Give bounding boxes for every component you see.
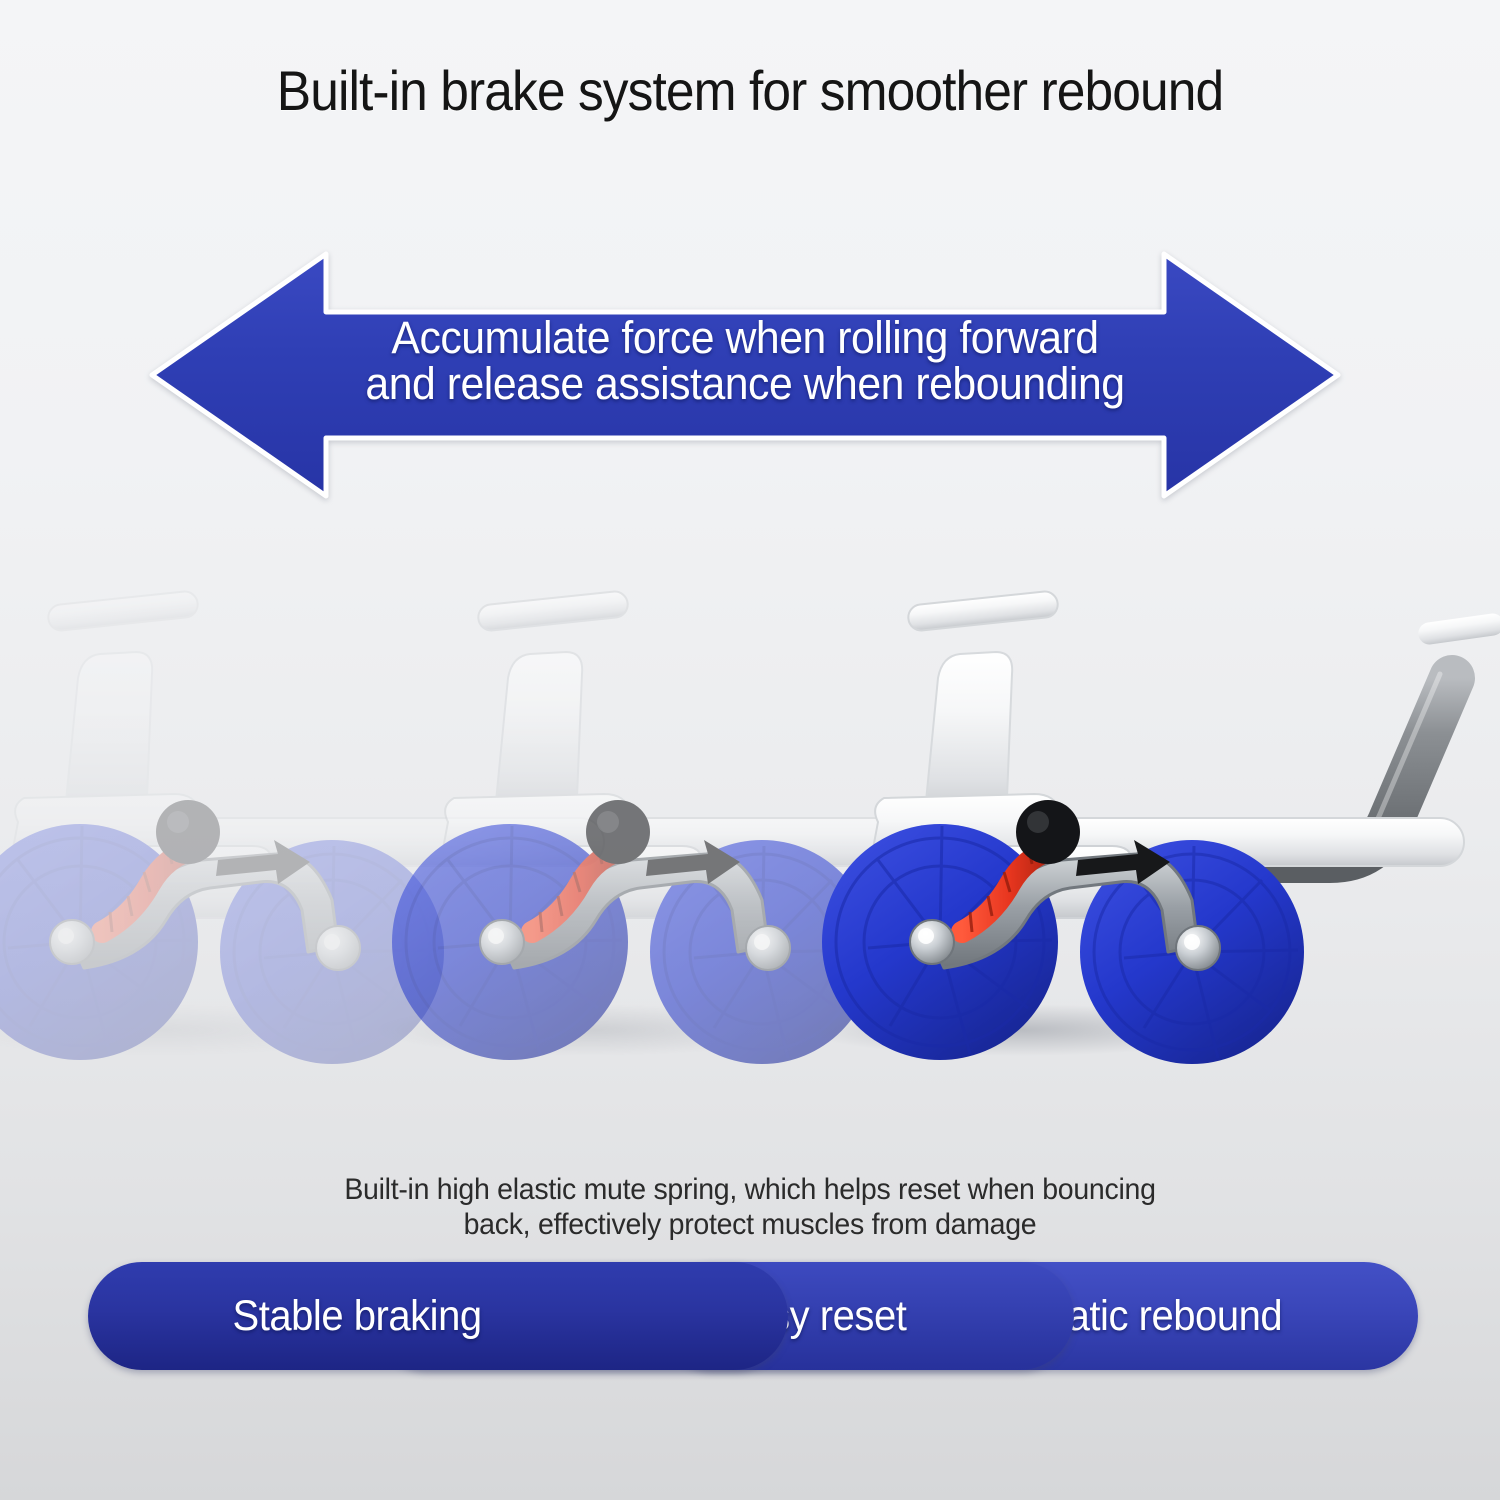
feature-pill-label: Stable braking — [232, 1292, 644, 1341]
caption-line-2: back, effectively protect muscles from d… — [209, 1207, 1292, 1242]
arrow-banner: Accumulate force when rolling forward an… — [140, 240, 1350, 510]
double-headed-arrow-icon — [140, 240, 1350, 510]
caption-line-1: Built-in high elastic mute spring, which… — [209, 1172, 1292, 1207]
product-caption: Built-in high elastic mute spring, which… — [209, 1172, 1292, 1243]
page-title: Built-in brake system for smoother rebou… — [60, 58, 1440, 123]
ab-roller-illustration — [0, 560, 1500, 1120]
feature-pill-stable-braking[interactable]: Stable braking — [88, 1262, 788, 1370]
roller-solid — [805, 590, 1464, 1064]
product-feature-banner: Built-in brake system for smoother rebou… — [0, 0, 1500, 1500]
product-scene — [0, 560, 1500, 1120]
feature-pill-group: Automatic rebound Easy reset Stable brak… — [88, 1262, 1418, 1370]
